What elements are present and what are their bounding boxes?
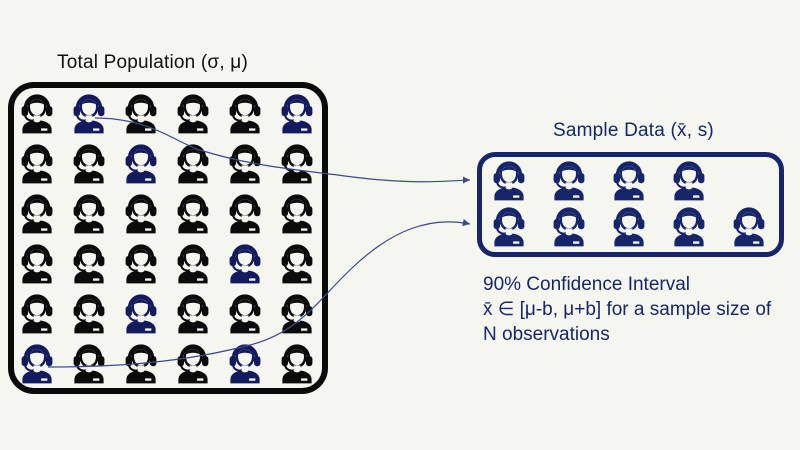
- population-person-r4-c6: [277, 241, 317, 285]
- person-headset-icon: [173, 191, 213, 235]
- caption-line-2: x̄ ∈ [μ-b, μ+b] for a sample size of: [483, 297, 799, 322]
- population-person-r3-c1: [17, 191, 57, 235]
- population-person-r3-c2: [69, 191, 109, 235]
- person-headset-icon: [277, 341, 317, 385]
- population-person-r1-c3: [121, 91, 161, 135]
- person-headset-icon: [17, 291, 57, 335]
- person-headset-icon: [17, 91, 57, 135]
- sample-person-r2-c3: [609, 204, 649, 248]
- population-person-r6-c2: [69, 341, 109, 385]
- person-headset-icon: [669, 204, 709, 248]
- person-headset-icon: [277, 141, 317, 185]
- person-headset-icon: [173, 141, 213, 185]
- population-person-r6-c5: [225, 341, 265, 385]
- population-person-r2-c4: [173, 141, 213, 185]
- population-person-r3-c3: [121, 191, 161, 235]
- population-person-r3-c4: [173, 191, 213, 235]
- person-headset-icon: [69, 291, 109, 335]
- person-headset-icon: [173, 241, 213, 285]
- person-headset-icon: [17, 241, 57, 285]
- sample-title: Sample Data (x̄, s): [553, 120, 714, 142]
- diagram-canvas: Total Population (σ, μ) Sample Data (x̄,…: [0, 0, 800, 450]
- person-headset-icon: [225, 191, 265, 235]
- person-headset-icon: [277, 191, 317, 235]
- population-person-r4-c1: [17, 241, 57, 285]
- population-person-r2-c5: [225, 141, 265, 185]
- person-headset-icon: [549, 158, 589, 202]
- person-headset-icon: [121, 191, 161, 235]
- population-person-r5-c2: [69, 291, 109, 335]
- population-person-r6-c6: [277, 341, 317, 385]
- population-person-r2-c2: [69, 141, 109, 185]
- population-person-r4-c3: [121, 241, 161, 285]
- population-person-r1-c6: [277, 91, 317, 135]
- confidence-interval-caption: 90% Confidence Interval x̄ ∈ [μ-b, μ+b] …: [483, 272, 799, 347]
- person-headset-icon: [69, 91, 109, 135]
- person-headset-icon: [121, 141, 161, 185]
- person-headset-icon: [17, 141, 57, 185]
- population-person-r3-c6: [277, 191, 317, 235]
- population-person-r6-c3: [121, 341, 161, 385]
- population-person-r2-c1: [17, 141, 57, 185]
- person-headset-icon: [225, 291, 265, 335]
- person-headset-icon: [69, 141, 109, 185]
- population-person-r6-c1: [17, 341, 57, 385]
- population-person-r5-c4: [173, 291, 213, 335]
- person-headset-icon: [669, 158, 709, 202]
- person-headset-icon: [69, 241, 109, 285]
- population-person-r1-c5: [225, 91, 265, 135]
- population-person-r5-c3: [121, 291, 161, 335]
- person-headset-icon: [609, 204, 649, 248]
- sample-person-r1-c1: [489, 158, 529, 202]
- population-person-r6-c4: [173, 341, 213, 385]
- population-person-r1-c4: [173, 91, 213, 135]
- sample-person-r2-c2: [549, 204, 589, 248]
- sample-person-r2-c5: [729, 204, 769, 248]
- person-headset-icon: [489, 158, 529, 202]
- person-headset-icon: [225, 341, 265, 385]
- person-headset-icon: [17, 341, 57, 385]
- person-headset-icon: [277, 91, 317, 135]
- person-headset-icon: [121, 91, 161, 135]
- person-headset-icon: [489, 204, 529, 248]
- person-headset-icon: [121, 341, 161, 385]
- person-headset-icon: [69, 191, 109, 235]
- person-headset-icon: [729, 204, 769, 248]
- caption-line-1: 90% Confidence Interval: [483, 272, 799, 297]
- person-headset-icon: [225, 91, 265, 135]
- population-person-r1-c1: [17, 91, 57, 135]
- person-headset-icon: [17, 191, 57, 235]
- caption-line-3: N observations: [483, 322, 799, 347]
- person-headset-icon: [225, 141, 265, 185]
- person-headset-icon: [173, 91, 213, 135]
- sample-person-r2-c1: [489, 204, 529, 248]
- person-headset-icon: [121, 291, 161, 335]
- population-person-r5-c5: [225, 291, 265, 335]
- person-headset-icon: [549, 204, 589, 248]
- person-headset-icon: [173, 341, 213, 385]
- sample-person-r1-c4: [669, 158, 709, 202]
- population-person-r3-c5: [225, 191, 265, 235]
- population-person-r4-c4: [173, 241, 213, 285]
- sample-person-r2-c4: [669, 204, 709, 248]
- population-person-r2-c3: [121, 141, 161, 185]
- population-person-r2-c6: [277, 141, 317, 185]
- person-headset-icon: [173, 291, 213, 335]
- population-title: Total Population (σ, μ): [57, 52, 248, 74]
- population-person-r4-c2: [69, 241, 109, 285]
- person-headset-icon: [609, 158, 649, 202]
- population-person-r4-c5: [225, 241, 265, 285]
- sample-person-r1-c3: [609, 158, 649, 202]
- person-headset-icon: [277, 241, 317, 285]
- sample-person-r1-c2: [549, 158, 589, 202]
- person-headset-icon: [225, 241, 265, 285]
- person-headset-icon: [277, 291, 317, 335]
- population-person-r5-c6: [277, 291, 317, 335]
- person-headset-icon: [121, 241, 161, 285]
- population-person-r1-c2: [69, 91, 109, 135]
- population-person-r5-c1: [17, 291, 57, 335]
- person-headset-icon: [69, 341, 109, 385]
